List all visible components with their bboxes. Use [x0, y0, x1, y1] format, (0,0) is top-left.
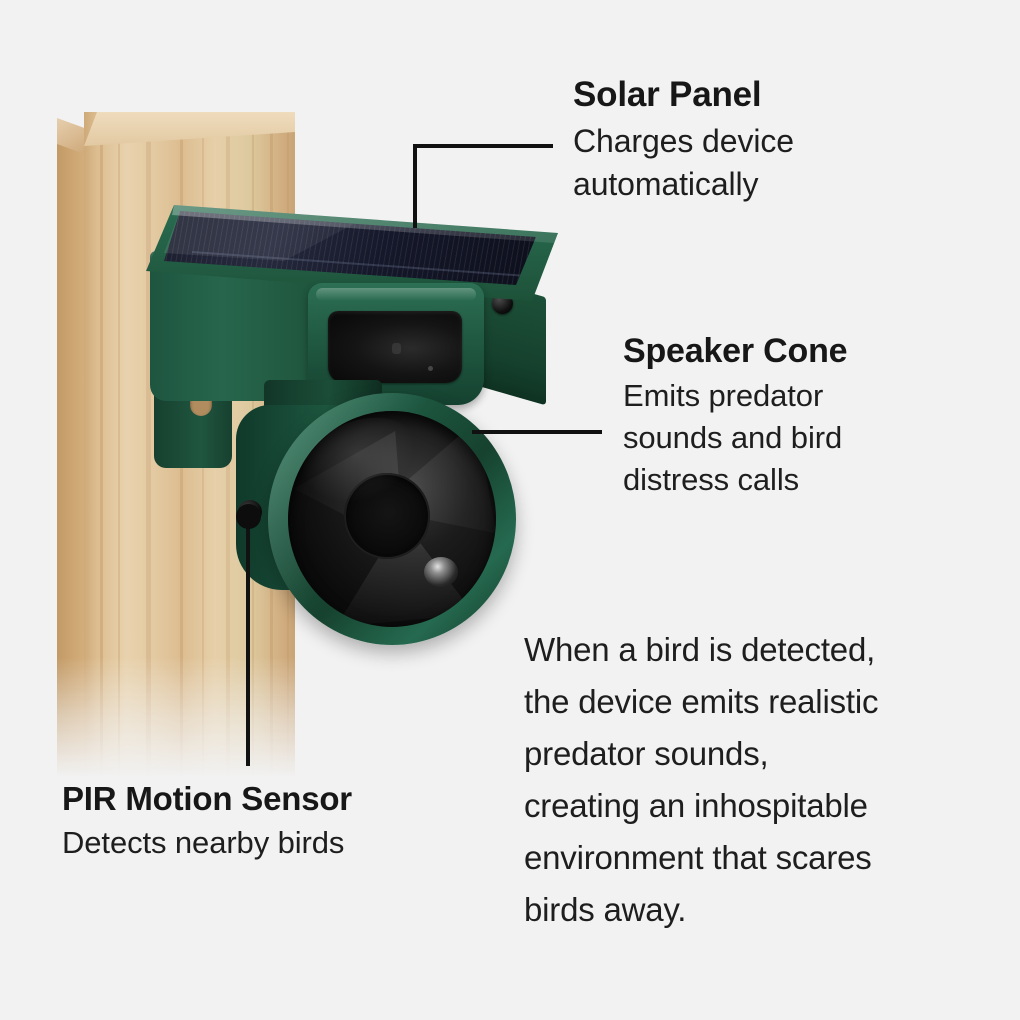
summary-line: creating an inhospitable	[524, 780, 1014, 832]
callout-speaker-cone: Speaker Cone Emits predator sounds and b…	[623, 330, 847, 501]
wood-grain-line	[100, 112, 103, 777]
callout-desc-line: automatically	[573, 163, 794, 206]
summary-line: When a bird is detected,	[524, 624, 1014, 676]
infographic-canvas: Solar Panel Charges device automatically…	[0, 0, 1020, 1020]
callout-desc-line: Detects nearby birds	[62, 822, 352, 864]
post-left-face	[57, 130, 85, 777]
callout-solar-panel: Solar Panel Charges device automatically	[573, 74, 794, 206]
callout-pir-motion-sensor: PIR Motion Sensor Detects nearby birds	[62, 778, 352, 864]
solar-panel-leader-line	[413, 144, 553, 148]
summary-line: the device emits realistic	[524, 676, 1014, 728]
callout-title-solar-panel: Solar Panel	[573, 74, 794, 116]
callout-desc-line: distress calls	[623, 459, 847, 501]
summary-line: environment that scares	[524, 832, 1014, 884]
summary-paragraph: When a bird is detected, the device emit…	[524, 624, 1014, 936]
speaker-cone-leader-line	[472, 430, 602, 434]
callout-desc-pir-motion-sensor: Detects nearby birds	[62, 822, 352, 864]
pir-lens-detail	[428, 366, 433, 371]
solar-panel-leader-stem	[413, 144, 417, 228]
pir-sensor-leader-line	[246, 516, 250, 766]
callout-desc-line: Charges device	[573, 120, 794, 163]
speaker-dome	[424, 557, 458, 587]
pir-sensor-leader-dot	[236, 504, 261, 529]
pir-sensor-lens	[328, 311, 462, 383]
summary-line: birds away.	[524, 884, 1014, 936]
callout-desc-speaker-cone: Emits predator sounds and bird distress …	[623, 375, 847, 501]
pir-lens-detail	[392, 343, 401, 354]
callout-title-pir-motion-sensor: PIR Motion Sensor	[62, 778, 352, 820]
callout-desc-solar-panel: Charges device automatically	[573, 120, 794, 206]
wood-grain-line	[118, 112, 120, 777]
summary-line: predator sounds,	[524, 728, 1014, 780]
callout-title-speaker-cone: Speaker Cone	[623, 330, 847, 372]
callout-desc-line: sounds and bird	[623, 417, 847, 459]
callout-desc-line: Emits predator	[623, 375, 847, 417]
